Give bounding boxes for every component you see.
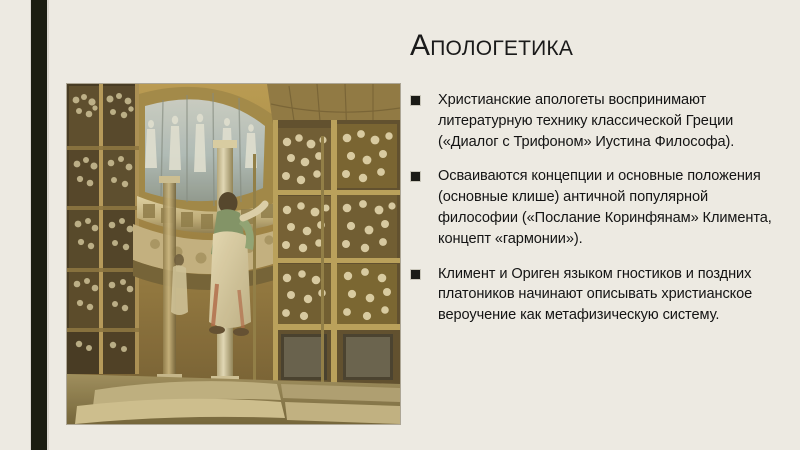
square-bullet-icon <box>410 269 421 280</box>
bullet-text: Осваиваются концепции и основные положен… <box>438 168 772 246</box>
square-bullet-icon <box>410 95 421 106</box>
slide-title: Апологетика <box>410 26 790 68</box>
bullet-item: Осваиваются концепции и основные положен… <box>408 166 780 249</box>
bullet-text: Христианские апологеты воспринимают лите… <box>438 92 734 150</box>
ancient-library-painting <box>67 84 400 424</box>
slide-body: Христианские апологеты воспринимают лите… <box>408 90 780 326</box>
presentation-slide: Апологетика Христианские апологеты воспр… <box>0 0 800 450</box>
bullet-item: Климент и Ориген языком гностиков и позд… <box>408 264 780 326</box>
bullet-text: Климент и Ориген языком гностиков и позд… <box>438 266 752 324</box>
bullet-item: Христианские апологеты воспринимают лите… <box>408 90 780 152</box>
left-accent-hairline <box>48 0 49 450</box>
slide-illustration <box>67 84 400 424</box>
square-bullet-icon <box>410 171 421 182</box>
left-accent-band <box>31 0 47 450</box>
